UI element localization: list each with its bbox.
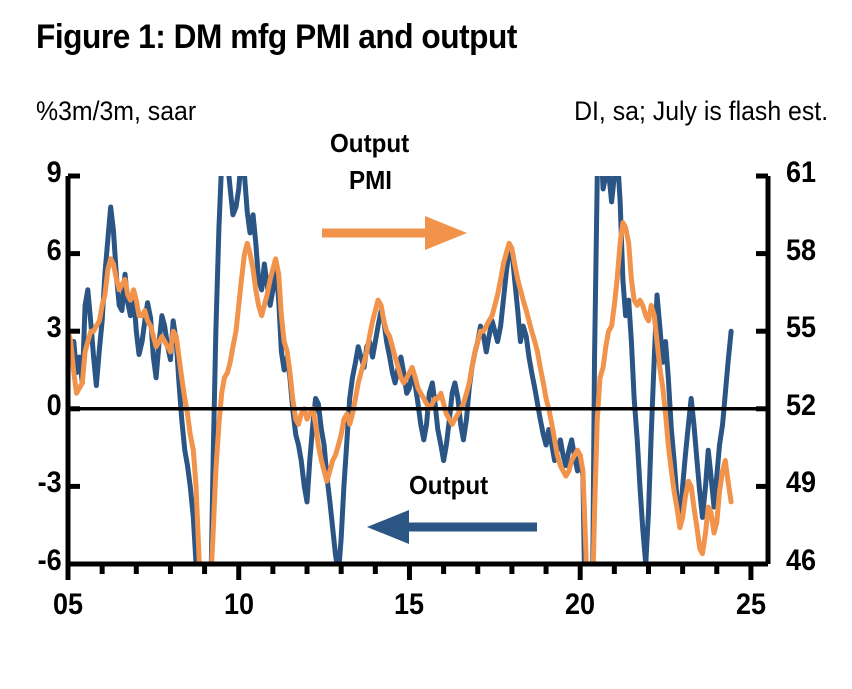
right-axis-tick-label: 49 (786, 466, 816, 500)
left-axis-tick-label: 9 (47, 156, 62, 190)
x-axis-tick-label: 10 (224, 588, 254, 622)
x-axis-tick-label: 15 (394, 588, 424, 622)
right-axis-tick-label: 52 (786, 389, 816, 423)
right-axis-tick-label: 61 (786, 156, 816, 190)
x-axis-tick-label: 20 (565, 588, 595, 622)
left-axis-tick-label: -6 (38, 544, 62, 578)
left-axis-tick-label: 0 (47, 389, 62, 423)
annotation-arrow-right (322, 216, 467, 250)
x-axis-tick-label: 25 (736, 588, 766, 622)
left-axis-tick-label: 6 (47, 234, 62, 268)
x-axis-tick-label: 05 (53, 588, 83, 622)
left-axis-tick-label: -3 (38, 466, 62, 500)
figure-container: Figure 1: DM mfg PMI and output %3m/3m, … (0, 0, 852, 689)
right-axis-tick-label: 46 (786, 544, 816, 578)
right-axis-tick-label: 58 (786, 234, 816, 268)
annotation-arrow-left (367, 510, 537, 544)
left-axis-tick-label: 3 (47, 311, 62, 345)
right-axis-tick-label: 55 (786, 311, 816, 345)
chart-plot (0, 0, 852, 689)
